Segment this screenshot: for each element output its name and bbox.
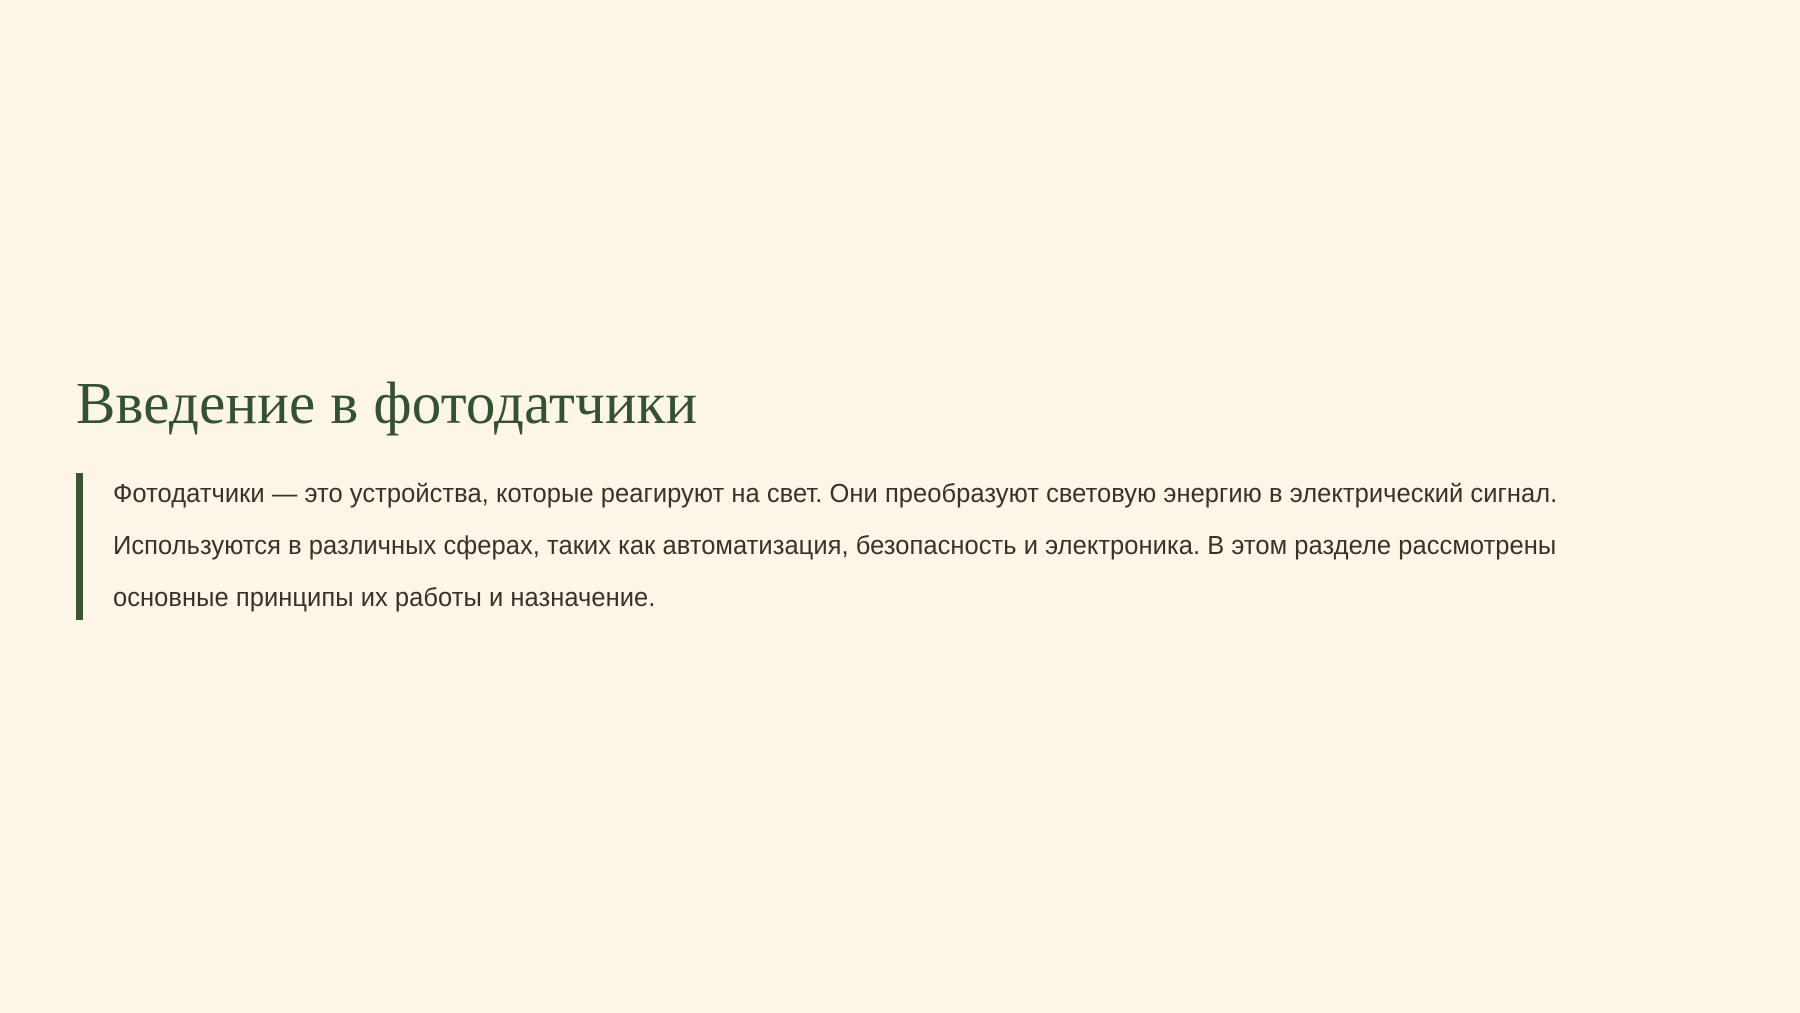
slide-content-block: Введение в фотодатчики Фотодатчики — это… xyxy=(76,372,1596,624)
page-title: Введение в фотодатчики xyxy=(76,372,1596,435)
accent-rule xyxy=(76,473,83,620)
callout-block: Фотодатчики — это устройства, которые ре… xyxy=(76,468,1596,624)
body-paragraph: Фотодатчики — это устройства, которые ре… xyxy=(113,468,1573,624)
slide-canvas: Введение в фотодатчики Фотодатчики — это… xyxy=(0,0,1800,1013)
